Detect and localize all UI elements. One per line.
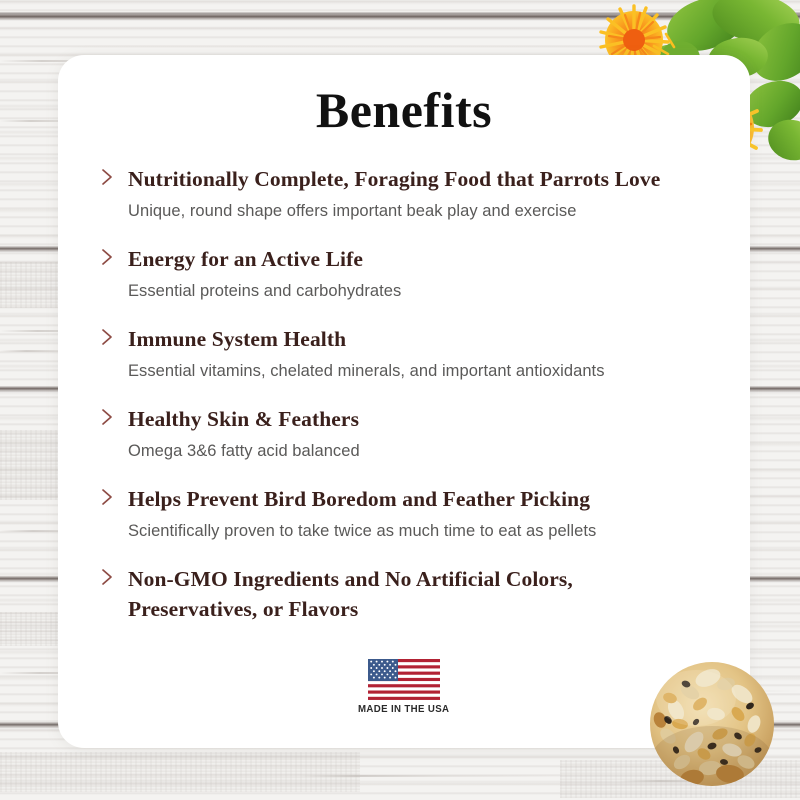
benefit-heading: Nutritionally Complete, Foraging Food th… [128, 165, 726, 195]
benefit-subtext: Scientifically proven to take twice as m… [128, 521, 726, 542]
benefit-heading: Non-GMO Ingredients and No Artificial Co… [128, 565, 598, 624]
chevron-right-icon [100, 488, 114, 506]
wood-grain [560, 760, 800, 798]
chevron-right-icon [100, 408, 114, 426]
usa-flag-icon [368, 659, 440, 700]
benefit-subtext: Essential proteins and carbohydrates [128, 281, 726, 302]
benefit-heading: Immune System Health [128, 325, 726, 355]
benefit-subtext: Essential vitamins, chelated minerals, a… [128, 361, 726, 382]
list-item: Energy for an Active Life Essential prot… [58, 245, 750, 302]
chevron-right-icon [100, 328, 114, 346]
benefit-subtext: Unique, round shape offers important bea… [128, 201, 726, 222]
benefits-list: Nutritionally Complete, Foraging Food th… [58, 139, 750, 625]
benefit-subtext: Omega 3&6 fatty acid balanced [128, 441, 726, 462]
wood-grain [0, 752, 360, 792]
benefit-heading: Energy for an Active Life [128, 245, 726, 275]
benefits-card: Benefits Nutritionally Complete, Foragin… [58, 55, 750, 748]
benefit-heading: Healthy Skin & Feathers [128, 405, 726, 435]
page-title: Benefits [58, 55, 750, 139]
made-in-usa-badge: MADE IN THE USA [58, 659, 750, 715]
list-item: Immune System Health Essential vitamins,… [58, 325, 750, 382]
wood-grain [620, 780, 800, 782]
list-item: Nutritionally Complete, Foraging Food th… [58, 165, 750, 222]
wood-grain [300, 775, 560, 777]
chevron-right-icon [100, 248, 114, 266]
chevron-right-icon [100, 168, 114, 186]
list-item: Non-GMO Ingredients and No Artificial Co… [58, 565, 750, 624]
list-item: Healthy Skin & Feathers Omega 3&6 fatty … [58, 405, 750, 462]
chevron-right-icon [100, 568, 114, 586]
made-in-usa-label: MADE IN THE USA [358, 703, 449, 715]
benefit-heading: Helps Prevent Bird Boredom and Feather P… [128, 485, 726, 515]
list-item: Helps Prevent Bird Boredom and Feather P… [58, 485, 750, 542]
plank-seam [0, 14, 800, 21]
